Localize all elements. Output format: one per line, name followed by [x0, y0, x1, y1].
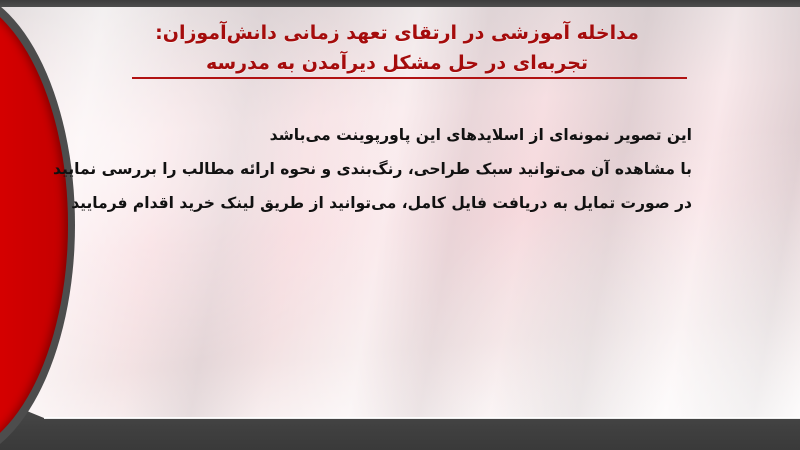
slide-body-text: این تصویر نمونه‌ای از اسلایدهای این پاور…: [132, 118, 692, 220]
presentation-slide: مداخله آموزشی در ارتقای تعهد زمانی دانش‌…: [0, 0, 800, 450]
slide-content: مداخله آموزشی در ارتقای تعهد زمانی دانش‌…: [0, 0, 800, 450]
slide-title: مداخله آموزشی در ارتقای تعهد زمانی دانش‌…: [112, 18, 682, 78]
body-line-1: این تصویر نمونه‌ای از اسلایدهای این پاور…: [132, 118, 692, 152]
title-line-2: تجربه‌ای در حل مشکل دیرآمدن به مدرسه: [112, 48, 682, 78]
title-underline: [132, 77, 687, 79]
title-line-1: مداخله آموزشی در ارتقای تعهد زمانی دانش‌…: [112, 18, 682, 48]
body-line-3: در صورت تمایل به دریافت فایل کامل، می‌تو…: [132, 186, 692, 220]
body-line-2: با مشاهده آن می‌توانید سبک طراحی، رنگ‌بن…: [132, 152, 692, 186]
